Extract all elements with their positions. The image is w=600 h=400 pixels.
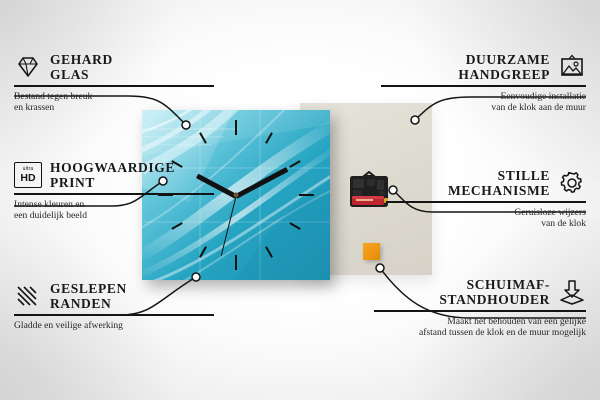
ultra-hd-icon-main-label: HD	[20, 173, 35, 184]
feature-title-line2: HANDGREEP	[458, 67, 550, 82]
feature-title-line2: PRINT	[50, 175, 175, 190]
feature-title-line1: DUURZAME	[458, 52, 550, 67]
feature-gehard-glas: GEHARD GLAS Bestand tegen breuk en krass…	[14, 52, 214, 114]
feature-duurzame-handgreep: DUURZAME HANDGREEP Eenvoudige installati…	[381, 52, 586, 114]
clock-tick-1	[265, 132, 273, 143]
feature-geslepen-randen: GESLEPEN RANDEN Gladde en veilige afwerk…	[14, 281, 214, 331]
spacer-stamp-icon	[558, 279, 586, 305]
feature-stille-mechanisme: STILLE MECHANISME Geruisloze wijzers van…	[386, 168, 586, 230]
clock-tick-5	[265, 246, 273, 257]
diamond-icon	[14, 54, 42, 80]
feature-title-line2: RANDEN	[50, 296, 127, 311]
feature-divider	[14, 85, 214, 87]
feature-title-line1: STILLE	[448, 168, 550, 183]
ultra-hd-icon-top-label: ultra	[23, 167, 34, 172]
feature-divider	[14, 314, 214, 316]
clock-tick-6	[235, 255, 237, 270]
feature-divider	[386, 201, 586, 203]
clock-tick-11	[199, 132, 207, 143]
feature-desc-line1: Bestand tegen breuk	[14, 91, 214, 103]
feature-title-line1: GESLEPEN	[50, 281, 127, 296]
clock-second-hand	[220, 196, 236, 256]
feature-desc-line1: Gladde en veilige afwerking	[14, 320, 214, 332]
feature-desc-line2: afstand tussen de klok en de muur mogeli…	[374, 327, 586, 339]
feature-title-line1: GEHARD	[50, 52, 113, 67]
clock-movement-mechanism	[347, 171, 391, 211]
feature-schuimafstandhouder: SCHUIMAF- STANDHOUDER Maakt het behouden…	[374, 277, 586, 339]
feature-desc-line1: Geruisloze wijzers	[386, 207, 586, 219]
hanging-frame-icon	[558, 54, 586, 80]
gear-icon	[558, 170, 586, 196]
feature-title-line2: GLAS	[50, 67, 113, 82]
feature-desc-line2: en krassen	[14, 102, 214, 114]
clock-tick-4	[289, 222, 300, 230]
infographic-canvas: GEHARD GLAS Bestand tegen breuk en krass…	[0, 0, 600, 400]
clock-center-hub	[234, 193, 239, 198]
clock-tick-7	[199, 246, 207, 257]
feature-divider	[14, 193, 214, 195]
clock-tick-8	[171, 222, 182, 230]
foam-spacer-product	[363, 243, 380, 260]
feature-divider	[381, 85, 586, 87]
clock-tick-2	[289, 160, 300, 168]
feature-desc-line2: een duidelijk beeld	[14, 210, 214, 222]
feature-desc-line2: van de klok aan de muur	[381, 102, 586, 114]
feature-divider	[374, 310, 586, 312]
clock-tick-12	[235, 120, 237, 135]
feature-desc-line1: Eenvoudige installatie	[381, 91, 586, 103]
ultra-hd-icon: ultra HD	[14, 162, 42, 188]
feature-title-line2: STANDHOUDER	[439, 292, 550, 307]
feature-desc-line1: Maakt het behouden van een gelijke	[374, 316, 586, 328]
feature-desc-line2: van de klok	[386, 218, 586, 230]
feature-title-line1: HOOGWAARDIGE	[50, 160, 175, 175]
feature-desc-line1: Intense kleuren en	[14, 199, 214, 211]
feature-title-line1: SCHUIMAF-	[439, 277, 550, 292]
diagonal-lines-icon	[14, 283, 42, 309]
feature-title-line2: MECHANISME	[448, 183, 550, 198]
clock-minute-hand	[235, 167, 289, 199]
feature-hoogwaardige-print: ultra HD HOOGWAARDIGE PRINT Intense kleu…	[14, 160, 214, 222]
clock-tick-3	[299, 194, 314, 196]
